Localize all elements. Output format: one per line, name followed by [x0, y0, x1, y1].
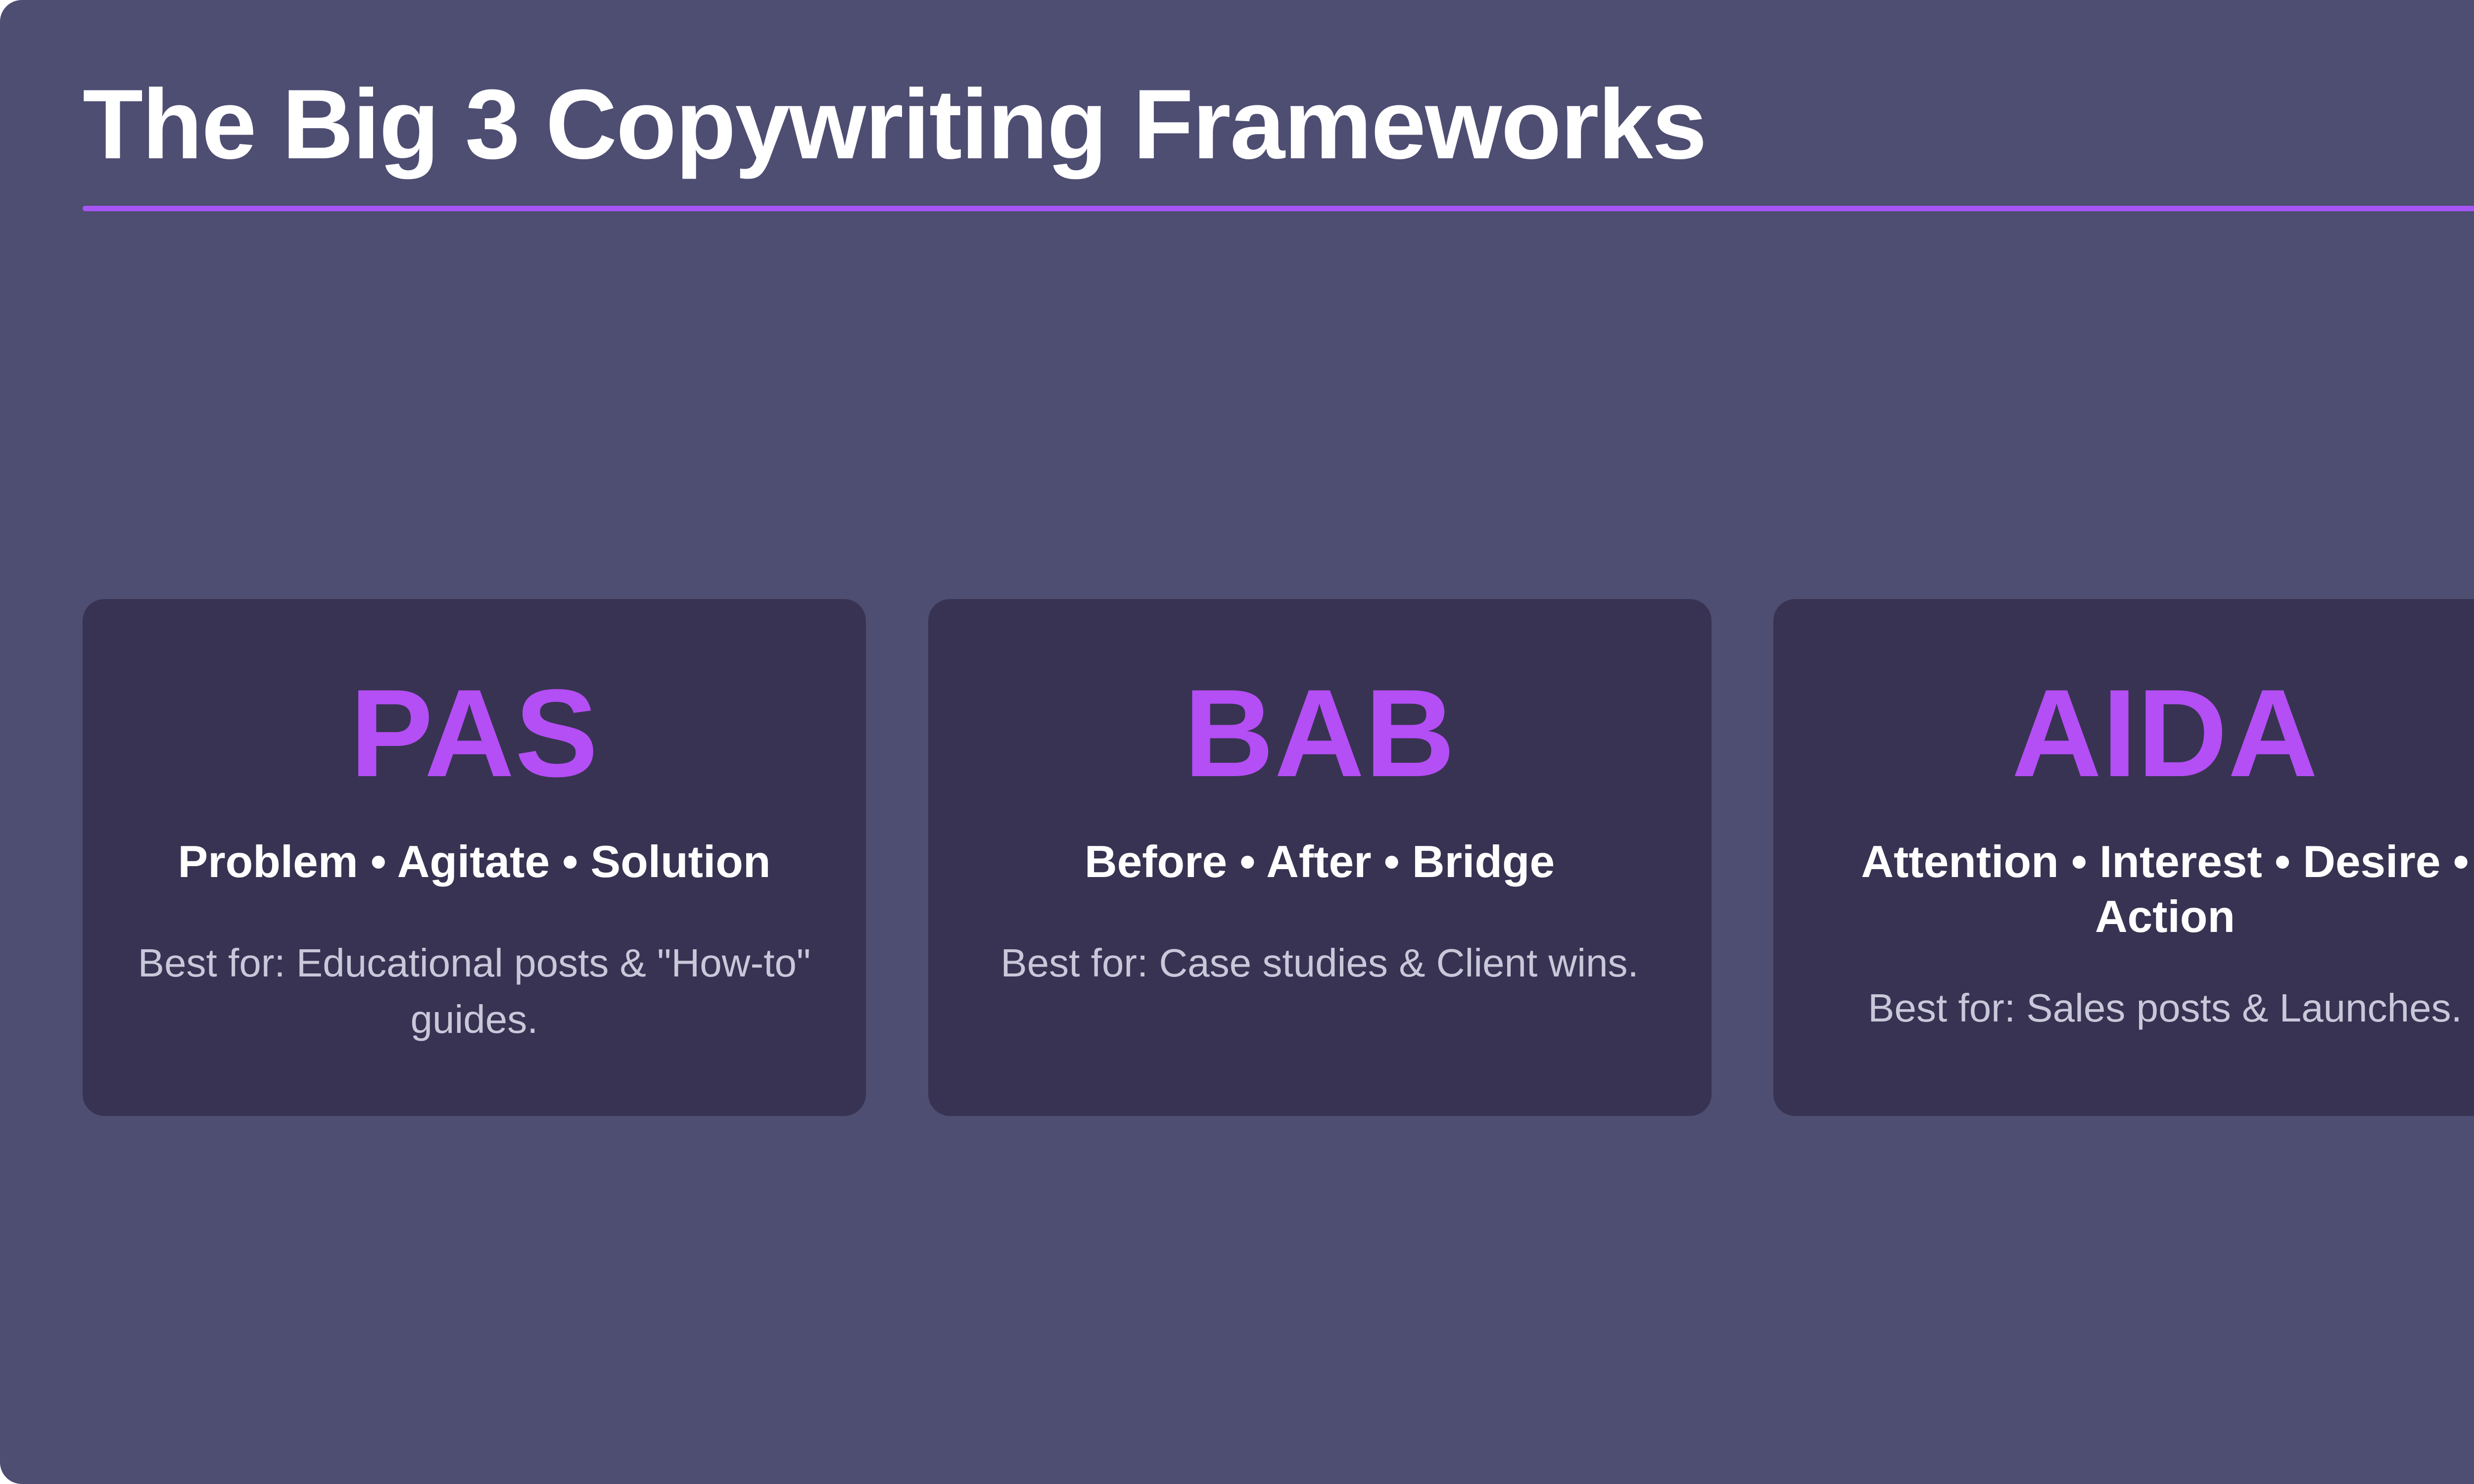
- page-title: The Big 3 Copywriting Frameworks: [83, 69, 2474, 180]
- framework-card-bab[interactable]: BAB Before • After • Bridge Best for: Ca…: [928, 599, 1712, 1116]
- card-expansion: Problem • Agitate • Solution: [178, 835, 771, 889]
- framework-cards-row: PAS Problem • Agitate • Solution Best fo…: [83, 599, 2474, 1116]
- card-acronym: AIDA: [2012, 671, 2319, 796]
- card-expansion: Before • After • Bridge: [1085, 835, 1555, 889]
- card-best-for: Best for: Case studies & Client wins.: [1000, 935, 1638, 991]
- card-acronym: PAS: [350, 671, 598, 796]
- slide-header: The Big 3 Copywriting Frameworks: [83, 69, 2474, 211]
- slide-canvas: The Big 3 Copywriting Frameworks PAS Pro…: [0, 0, 2474, 1484]
- card-best-for: Best for: Educational posts & "How-to" g…: [117, 935, 831, 1047]
- card-acronym: BAB: [1184, 671, 1456, 796]
- card-expansion: Attention • Interest • Desire • Action: [1808, 835, 2474, 944]
- framework-card-pas[interactable]: PAS Problem • Agitate • Solution Best fo…: [83, 599, 866, 1116]
- card-best-for: Best for: Sales posts & Launches.: [1868, 980, 2462, 1036]
- framework-card-aida[interactable]: AIDA Attention • Interest • Desire • Act…: [1773, 599, 2474, 1116]
- title-divider: [83, 206, 2474, 211]
